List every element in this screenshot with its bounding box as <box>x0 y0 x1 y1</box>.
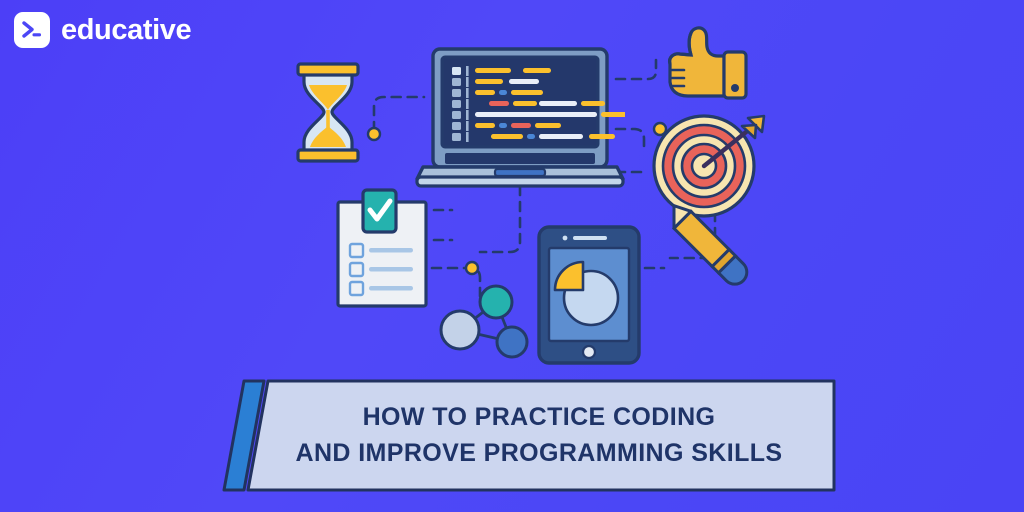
code-segment <box>535 123 561 128</box>
network-node-right <box>497 327 527 357</box>
brand-name: educative <box>61 16 191 45</box>
network-node-top <box>480 286 512 318</box>
code-segment <box>489 101 509 106</box>
code-segment <box>513 101 537 106</box>
pencil-icon <box>648 196 758 296</box>
code-segment <box>499 90 507 95</box>
code-segment <box>523 68 551 73</box>
terminal-prompt-glyph <box>19 17 45 43</box>
code-segment <box>499 123 507 128</box>
code-segment <box>475 112 597 117</box>
code-segment <box>589 134 615 139</box>
code-segment <box>527 134 535 139</box>
hourglass-icon <box>288 58 368 166</box>
laptop-code-icon <box>415 45 625 190</box>
tablet-pie-chart-icon <box>535 224 643 366</box>
banner-title-line-2: AND IMPROVE PROGRAMMING SKILLS <box>295 441 782 466</box>
checklist-icon <box>333 188 431 310</box>
checklist-rows <box>350 244 413 295</box>
code-segment <box>539 101 577 106</box>
code-segment <box>539 134 583 139</box>
banner-title-line-1: HOW TO PRACTICE CODING <box>363 405 716 430</box>
code-segment <box>475 68 511 73</box>
code-segment <box>511 123 531 128</box>
network-nodes-icon <box>438 282 530 362</box>
banner-title-block: HOW TO PRACTICE CODING AND IMPROVE PROGR… <box>250 378 828 493</box>
educative-logo[interactable]: educative <box>14 12 191 48</box>
thumbs-up-icon <box>658 24 754 102</box>
code-segment <box>581 101 605 106</box>
network-node-left <box>441 311 479 349</box>
code-segment <box>491 134 523 139</box>
connector-dot <box>466 262 478 274</box>
code-segment <box>511 90 543 95</box>
code-segment <box>475 79 503 84</box>
title-banner: HOW TO PRACTICE CODING AND IMPROVE PROGR… <box>190 378 840 493</box>
code-segment <box>509 79 539 84</box>
terminal-prompt-icon <box>14 12 50 48</box>
connector-dot <box>368 128 380 140</box>
code-segment <box>475 123 495 128</box>
code-segment <box>601 112 625 117</box>
code-segment <box>475 90 495 95</box>
hero-banner-image: educative <box>0 0 1024 512</box>
